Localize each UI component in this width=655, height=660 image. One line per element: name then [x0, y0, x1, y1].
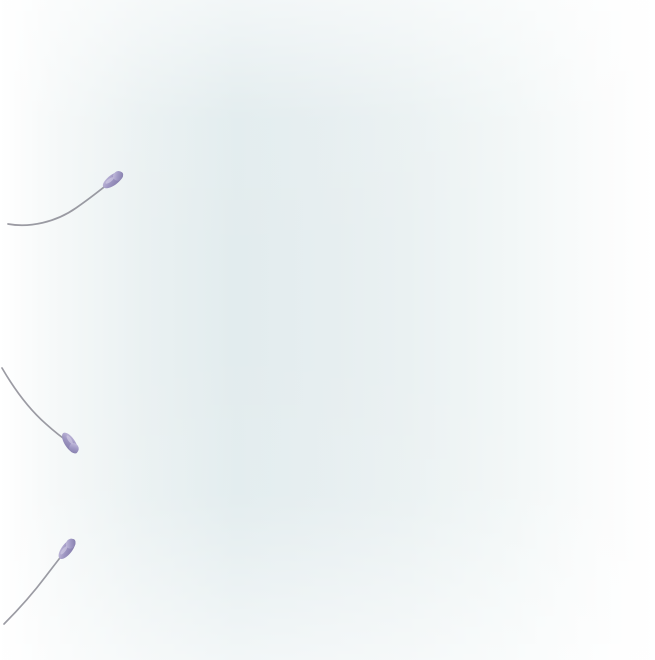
sperm-b1 [2, 368, 81, 456]
figure-canvas: 46 XX 46 XX 46 XX EMPTY EGG PATERNAL CHR… [0, 0, 655, 660]
sperm-a1 [8, 169, 126, 225]
sperm-layer [0, 0, 655, 660]
sperm-b2 [4, 536, 78, 624]
